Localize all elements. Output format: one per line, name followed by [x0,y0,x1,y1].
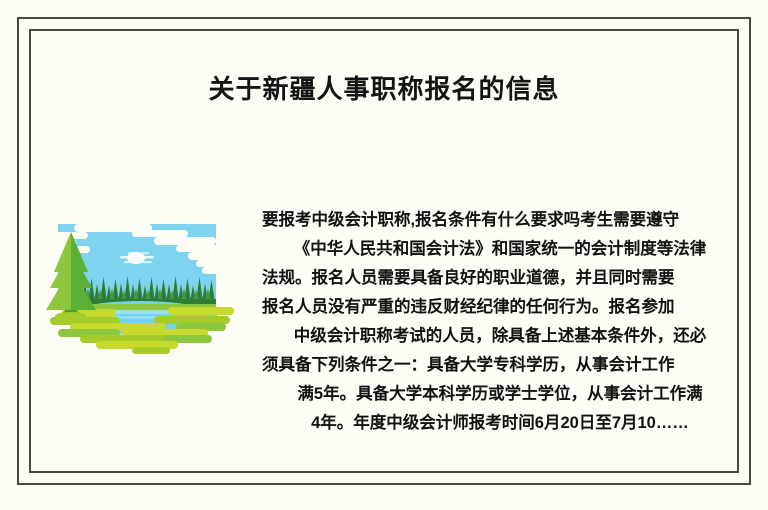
article-line: 报名人员没有严重的违反财经纪律的任何行为。报名参加 [262,293,738,322]
article-line: 法规。报名人员需要具备良好的职业道德，并且同时需要 [262,264,738,293]
article-line: 满5年。具备大学本科学历或学士学位，从事会计工作满 [262,380,738,409]
article-line: 《中华人民共和国会计法》和国家统一的会计制度等法律 [262,235,738,264]
article-line: 须具备下列条件之一：具备大学专科学历，从事会计工作 [262,351,738,380]
article-body: 要报考中级会计职称,报名条件有什么要求吗考生需要遵守 《中华人民共和国会计法》和… [262,206,738,438]
lake-forest-landscape-illustration [36,206,236,358]
page-root: 关于新疆人事职称报名的信息 [0,0,768,510]
article-line: 4年。年度中级会计师报考时间6月20日至7月10…… [262,409,738,438]
page-title: 关于新疆人事职称报名的信息 [29,74,739,105]
landscape-svg [36,206,236,358]
article-line: 中级会计职称考试的人员，除具备上述基本条件外，还必 [262,322,738,351]
article-line: 要报考中级会计职称,报名条件有什么要求吗考生需要遵守 [262,206,738,235]
